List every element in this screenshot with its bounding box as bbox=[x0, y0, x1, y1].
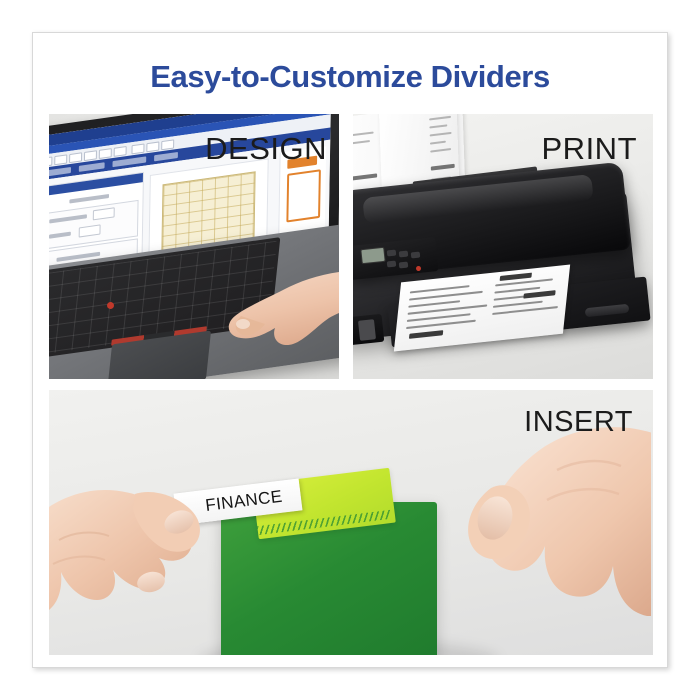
printer-button[interactable] bbox=[399, 251, 409, 258]
panel-design: DESIGN bbox=[49, 114, 339, 379]
panel-print: PRINT bbox=[353, 114, 653, 379]
printer-button[interactable] bbox=[387, 250, 397, 257]
panel-caption-design: DESIGN bbox=[205, 131, 327, 167]
right-hand bbox=[371, 426, 651, 655]
form-header bbox=[49, 173, 143, 197]
hand-on-keyboard bbox=[201, 264, 339, 379]
printer-memory-card-slot bbox=[358, 319, 376, 341]
left-hand bbox=[49, 460, 254, 655]
printer-lcd-display bbox=[360, 247, 385, 264]
product-image-page: Easy-to-Customize Dividers bbox=[0, 0, 700, 700]
panel-caption-print: PRINT bbox=[542, 131, 638, 167]
printer-button[interactable] bbox=[399, 262, 409, 269]
page-title: Easy-to-Customize Dividers bbox=[33, 59, 667, 95]
template-thumbnail bbox=[286, 169, 321, 222]
image-card: Easy-to-Customize Dividers bbox=[32, 32, 668, 668]
panel-caption-insert: INSERT bbox=[524, 406, 633, 439]
printer-button[interactable] bbox=[387, 261, 397, 268]
printer-button[interactable] bbox=[411, 252, 421, 259]
panel-insert: FINANCE bbox=[49, 390, 653, 655]
